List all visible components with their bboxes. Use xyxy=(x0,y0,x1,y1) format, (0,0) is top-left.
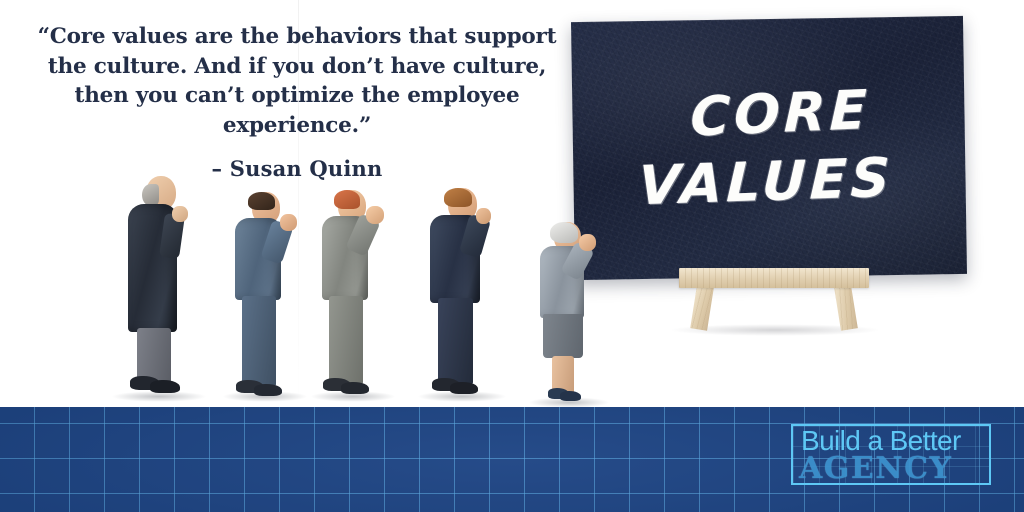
figurine-trousers xyxy=(438,298,473,384)
figurine-man-navy-suit xyxy=(424,188,500,398)
figurine-trousers xyxy=(137,328,171,382)
figurine-shoe-right xyxy=(450,382,478,394)
figurine-hair xyxy=(550,222,578,243)
figurine-man-blue-suit xyxy=(228,192,302,398)
figurine-shoe-right xyxy=(560,391,581,401)
wooden-stand xyxy=(679,268,869,330)
figurine-woman-grey xyxy=(534,222,604,404)
brand-logo[interactable]: Build a Better AGENCY xyxy=(791,424,991,485)
figurine-shoe-right xyxy=(341,382,369,394)
chalkboard-line-2: VALUES xyxy=(638,151,895,213)
figurine-man-grey-suit xyxy=(316,190,390,398)
figurine-shoe-right xyxy=(254,384,282,396)
figurine-hand xyxy=(579,234,596,251)
chalkboard: CORE VALUES xyxy=(568,13,968,275)
figurine-man-overcoat xyxy=(118,176,200,398)
figurine-hair xyxy=(334,190,360,209)
figurine-trousers xyxy=(329,296,363,384)
quote-block: “Core values are the behaviors that supp… xyxy=(24,22,570,181)
chalkboard-surface: CORE VALUES xyxy=(571,16,967,280)
figurine-hand xyxy=(172,206,188,222)
figurine-hand xyxy=(280,214,297,231)
chalkboard-line-1: CORE xyxy=(690,83,872,145)
figurine-hair xyxy=(444,188,472,207)
stand-top-board xyxy=(679,268,869,288)
poster-canvas: “Core values are the behaviors that supp… xyxy=(0,0,1024,512)
quote-attribution: – Susan Quinn xyxy=(24,156,570,181)
figurine-hair xyxy=(142,184,159,206)
quote-text: “Core values are the behaviors that supp… xyxy=(24,22,570,140)
figurine-hand xyxy=(366,206,384,224)
figurine-skirt xyxy=(543,314,583,358)
logo-line-2: AGENCY xyxy=(799,453,989,484)
figurine-shoe-right xyxy=(150,380,180,393)
chalkboard-text: CORE VALUES xyxy=(571,16,967,280)
figurine-hand xyxy=(476,208,491,224)
figurine-hair xyxy=(248,192,275,210)
figurine-trousers xyxy=(242,296,276,386)
